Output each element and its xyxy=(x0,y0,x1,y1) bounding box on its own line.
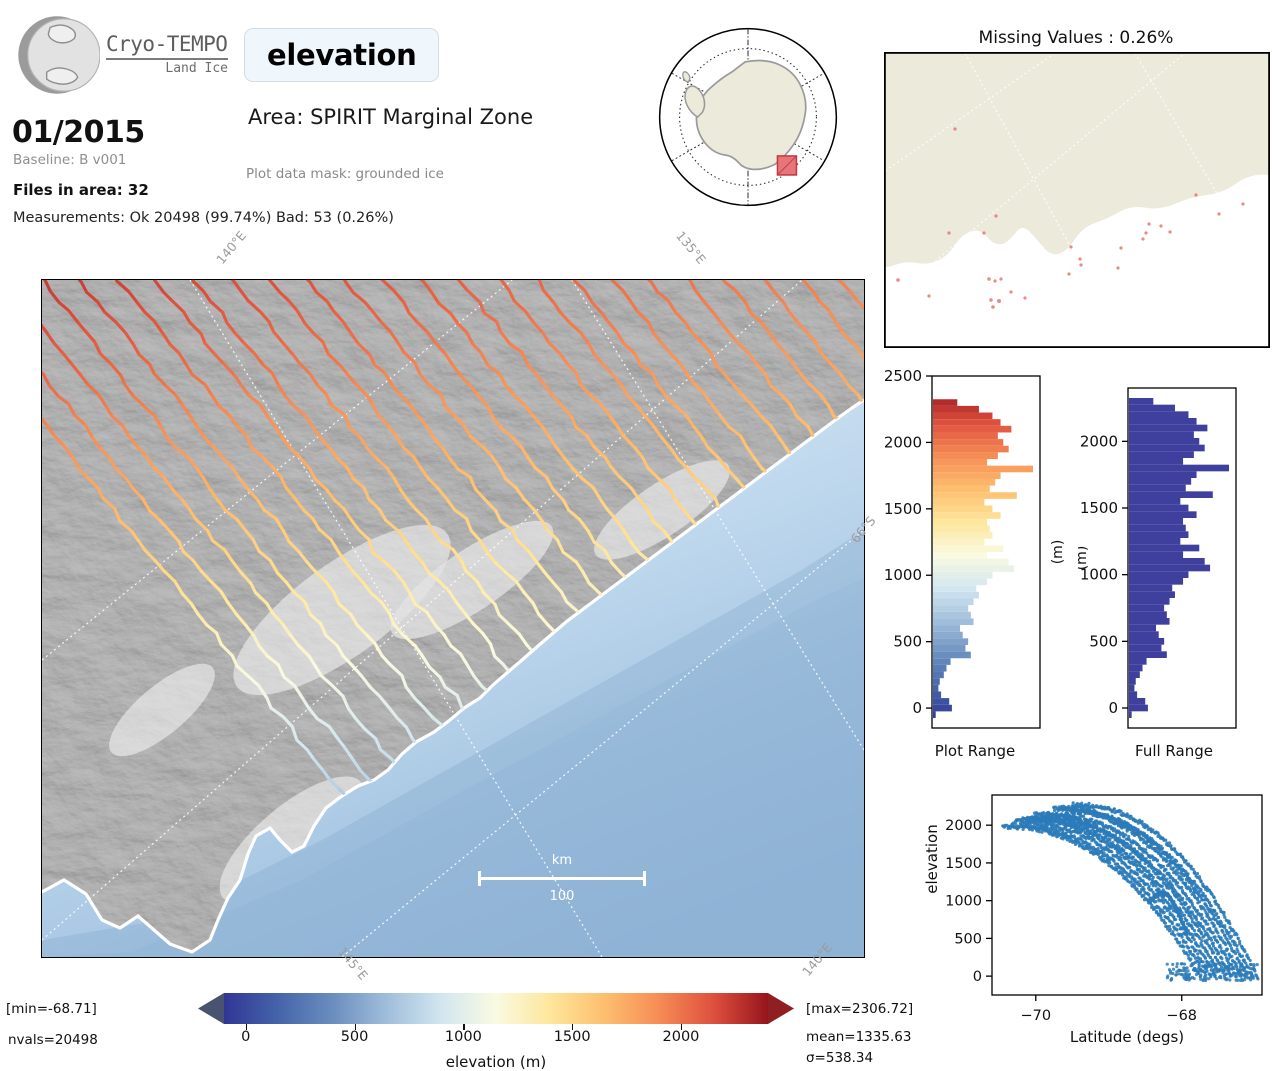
svg-text:1500: 1500 xyxy=(945,856,982,872)
scatter-y-axis-label: elevation xyxy=(923,799,941,919)
full-range-histogram: 0500100015002000(m) Full Range xyxy=(1078,368,1270,768)
missing-values-title: Missing Values : 0.26% xyxy=(880,28,1272,48)
colorbar-sigma-label: σ=538.34 xyxy=(806,1050,873,1066)
colorbar-min-label: [min=-68.71] xyxy=(6,1001,97,1017)
globe-icon xyxy=(14,12,100,98)
logo-wordmark: Cryo-TEMPO xyxy=(106,34,236,55)
brand-logo: Cryo-TEMPO Land Ice xyxy=(14,8,229,104)
svg-text:2000: 2000 xyxy=(945,818,982,834)
svg-text:(m): (m) xyxy=(1050,540,1066,565)
grid-label-135e-top: 135°E xyxy=(673,228,709,267)
svg-text:500: 500 xyxy=(893,633,922,651)
svg-text:1000: 1000 xyxy=(945,894,982,910)
elevation-vs-latitude-scatter: elevation 0500100015002000−70−68 Latitud… xyxy=(900,790,1272,1060)
antarctica-locator-map xyxy=(653,22,843,212)
colorbar-tick-label: 2000 xyxy=(646,1029,716,1045)
scalebar-tick-left xyxy=(478,871,481,886)
colorbar-nvals-label: nvals=20498 xyxy=(8,1032,98,1048)
svg-text:500: 500 xyxy=(1089,632,1118,650)
grid-label-140e-top: 140°E xyxy=(213,228,249,267)
svg-text:2500: 2500 xyxy=(884,368,922,385)
logo-divider xyxy=(106,58,228,60)
baseline-label: Baseline: B v001 xyxy=(13,152,126,168)
full-range-caption: Full Range xyxy=(1078,742,1270,760)
svg-text:1500: 1500 xyxy=(884,500,922,518)
scalebar-line xyxy=(478,877,646,880)
scalebar-unit: km xyxy=(478,853,646,868)
plot-range-caption: Plot Range xyxy=(880,742,1070,760)
svg-text:1000: 1000 xyxy=(884,566,922,584)
colorbar-tick-label: 0 xyxy=(211,1029,281,1045)
svg-text:−70: −70 xyxy=(1020,1008,1051,1024)
scatter-x-axis-label: Latitude (degs) xyxy=(992,1028,1262,1046)
colorbar-max-label: [max=2306.72] xyxy=(806,1001,913,1017)
svg-text:0: 0 xyxy=(1108,699,1118,717)
colorbar-tick-label: 1000 xyxy=(428,1029,498,1045)
scalebar-value: 100 xyxy=(478,889,646,904)
logo-subtitle: Land Ice xyxy=(106,62,228,75)
svg-text:0: 0 xyxy=(912,699,922,717)
area-title: Area: SPIRIT Marginal Zone xyxy=(248,105,533,129)
measurements-label: Measurements: Ok 20498 (99.74%) Bad: 53 … xyxy=(13,210,394,226)
colorbar-mean-label: mean=1335.63 xyxy=(806,1029,911,1045)
main-elevation-map[interactable] xyxy=(41,279,865,958)
missing-values-panel xyxy=(884,52,1270,348)
page-title: elevation xyxy=(244,28,439,82)
svg-text:500: 500 xyxy=(954,931,982,947)
elevation-colorbar: [min=-68.71] [max=2306.72] nvals=20498 m… xyxy=(0,985,910,1060)
svg-text:2000: 2000 xyxy=(1080,432,1118,450)
svg-text:1500: 1500 xyxy=(1080,499,1118,517)
mask-note: Plot data mask: grounded ice xyxy=(246,166,444,182)
svg-text:0: 0 xyxy=(973,969,982,985)
svg-text:−68: −68 xyxy=(1166,1008,1197,1024)
date-label: 01/2015 xyxy=(12,115,145,150)
svg-text:2000: 2000 xyxy=(884,433,922,451)
svg-text:(m): (m) xyxy=(1078,546,1090,571)
colorbar-tick-label: 500 xyxy=(320,1029,390,1045)
files-in-area-label: Files in area: 32 xyxy=(13,181,149,199)
scalebar-tick-right xyxy=(643,871,646,886)
plot-range-histogram: 05001000150020002500(m) Plot Range xyxy=(880,368,1070,768)
colorbar-tick-label: 1500 xyxy=(537,1029,607,1045)
colorbar-axis-label: elevation (m) xyxy=(224,1053,768,1071)
